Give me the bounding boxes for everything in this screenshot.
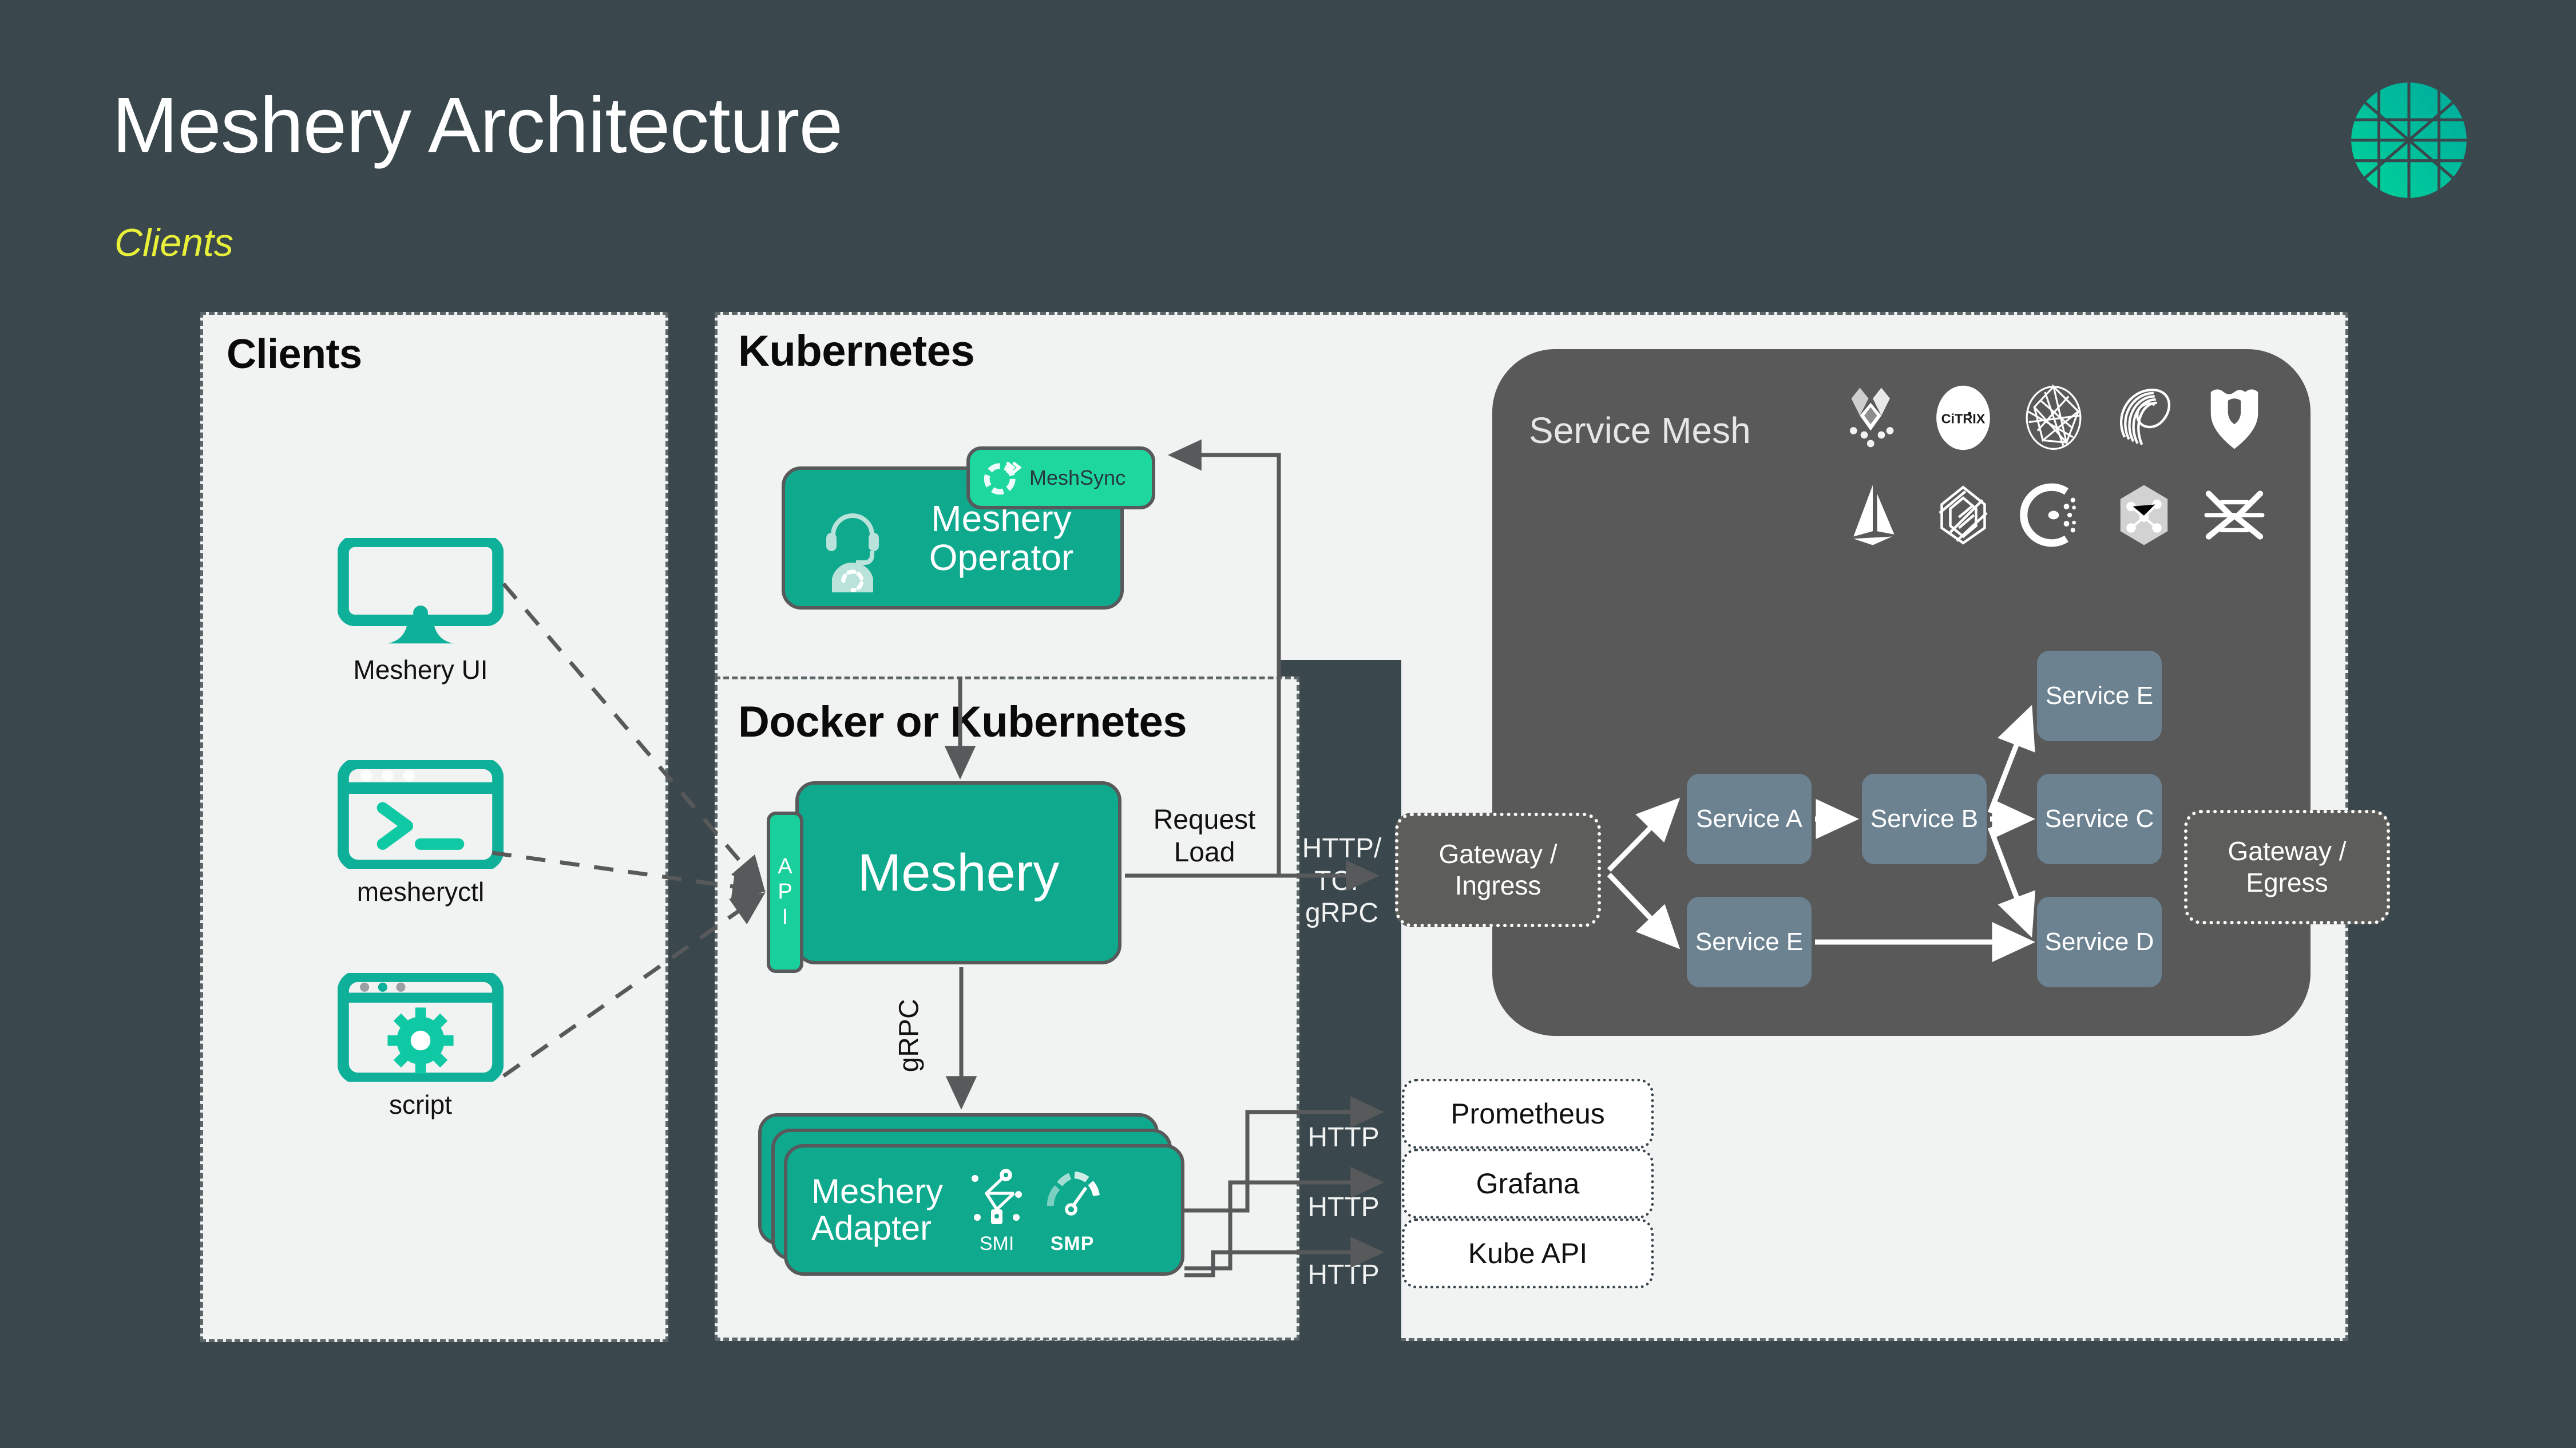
service-mesh-logo-grid: CiTRIX [1828,369,2280,564]
client-label: mesheryctl [329,876,512,907]
smi-label: SMI [967,1233,1027,1255]
network-service-mesh-icon [1929,481,1998,549]
gateway-ingress-line2: Ingress [1438,870,1557,901]
service-node-e-top[interactable]: Service E [2037,651,2162,741]
gateway-ingress-node[interactable]: Gateway / Ingress [1395,813,1601,927]
smp-label: SMP [1039,1233,1105,1255]
page-subtitle: Clients [114,220,233,265]
open-service-mesh-icon [2019,481,2088,549]
service-label: Service A [1696,805,1802,833]
service-node-a[interactable]: Service A [1687,774,1812,864]
sync-circle-icon [980,457,1021,499]
kube-api-label: Kube API [1468,1237,1588,1270]
monitor-icon [338,538,504,647]
edge-label-http-2: HTTP [1292,1192,1395,1224]
grafana-label: Grafana [1476,1167,1580,1200]
meshery-adapter-node[interactable]: Meshery Adapter [784,1144,1184,1276]
meshery-logo-icon [2349,80,2469,200]
operator-label-line2: Operator [929,538,1074,577]
service-mesh-title: Service Mesh [1529,409,1751,452]
adapter-label-line2: Adapter [811,1210,943,1247]
proto-line3: gRPC [1290,897,1393,930]
gateway-egress-node[interactable]: Gateway / Egress [2184,810,2390,924]
citrix-wordmark: CiTRIX [1941,411,1985,426]
diagram-canvas: Meshery Architecture Clients Clients Kub… [0,0,2576,1448]
operator-headset-icon [818,501,898,592]
client-label: script [329,1089,512,1120]
proto-line2: TCP [1290,865,1393,898]
prometheus-label: Prometheus [1451,1097,1605,1130]
smi-icon [967,1165,1027,1229]
page-title: Meshery Architecture [112,86,842,165]
panel-clients-title: Clients [227,331,362,378]
service-node-c[interactable]: Service C [2037,774,2162,864]
service-label: Service B [1870,805,1978,833]
consul-icon [2019,383,2088,452]
request-load-line2: Load [1130,837,1279,869]
service-label: Service E [1695,928,1803,956]
kuma-icon [2110,383,2178,452]
panel-docker-title: Docker or Kubernetes [738,697,1187,747]
api-label-p: P [778,880,792,905]
proto-line1: HTTP/ [1290,833,1393,865]
client-meshery-ui[interactable]: Meshery UI [329,538,512,685]
edge-label-http-1: HTTP [1292,1122,1395,1154]
service-node-e-bottom[interactable]: Service E [1687,897,1812,987]
kube-api-node[interactable]: Kube API [1402,1218,1654,1288]
request-load-line1: Request [1130,804,1279,837]
api-label-a: A [778,854,792,880]
service-label: Service C [2045,805,2154,833]
edge-label-grpc: gRPC [894,1003,926,1072]
edge-label-request-load: Request Load [1130,804,1279,869]
gateway-egress-line1: Gateway / [2228,836,2346,867]
gateway-egress-line2: Egress [2228,867,2346,899]
client-script[interactable]: script [329,973,512,1120]
meshery-label: Meshery [858,845,1060,901]
panel-kubernetes-title: Kubernetes [738,326,974,376]
meshery-api-tab[interactable]: A P I [767,812,803,973]
client-mesheryctl[interactable]: mesheryctl [329,760,512,907]
meshsync-label: MeshSync [1029,466,1125,490]
service-label: Service E [2046,682,2153,710]
meshsync-badge[interactable]: MeshSync [966,446,1155,509]
api-label-i: I [782,905,788,930]
service-label: Service D [2045,928,2154,956]
app-mesh-icon [1838,383,1907,452]
citrix-icon: CiTRIX [1929,383,1998,452]
edge-label-http-3: HTTP [1292,1259,1395,1292]
prometheus-node[interactable]: Prometheus [1402,1079,1654,1149]
service-node-b[interactable]: Service B [1862,774,1987,864]
adapter-label-line1: Meshery [811,1173,943,1210]
client-label: Meshery UI [329,654,512,685]
traefik-mesh-icon [2200,481,2269,549]
smp-icon [1039,1165,1105,1229]
grafana-node[interactable]: Grafana [1402,1149,1654,1218]
terminal-icon [338,760,504,869]
gateway-ingress-line1: Gateway / [1438,838,1557,870]
service-node-d[interactable]: Service D [2037,897,2162,987]
nginx-service-mesh-icon [2110,481,2178,549]
linkerd-icon [2200,383,2269,452]
edge-label-http-tcp-grpc: HTTP/ TCP gRPC [1290,833,1393,930]
meshery-node[interactable]: Meshery [795,781,1121,964]
istio-icon [1838,481,1907,549]
gear-window-icon [338,973,504,1082]
